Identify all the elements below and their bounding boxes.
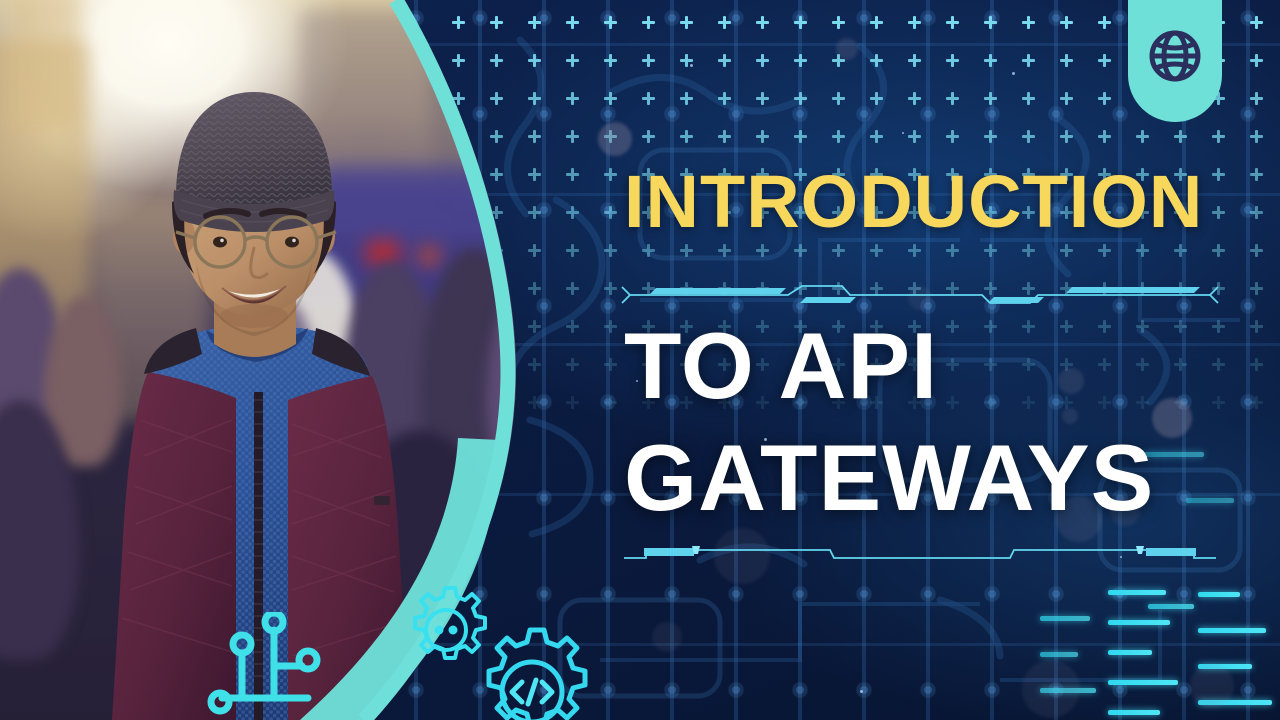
subline-gateways: GATEWAYS (624, 430, 1214, 526)
globe-badge[interactable] (1128, 0, 1222, 122)
globe-icon (1147, 28, 1203, 84)
circuit-nodes-wrap (204, 612, 336, 720)
gear-large-wrap (462, 622, 602, 720)
gear-code-icon (462, 622, 602, 720)
thumbnail-canvas: INTRODUCTION TO API GATEWAYS (0, 0, 1280, 720)
headline-introduction: INTRODUCTION (624, 168, 1214, 236)
bottom-divider (620, 538, 1220, 564)
title-block: INTRODUCTION (624, 168, 1214, 236)
subtitle-block-2: GATEWAYS (624, 430, 1214, 526)
top-divider (620, 281, 1220, 307)
subline-to-api: TO API (624, 318, 1214, 414)
subtitle-block: TO API (624, 318, 1214, 414)
circuit-nodes-icon (204, 612, 336, 720)
